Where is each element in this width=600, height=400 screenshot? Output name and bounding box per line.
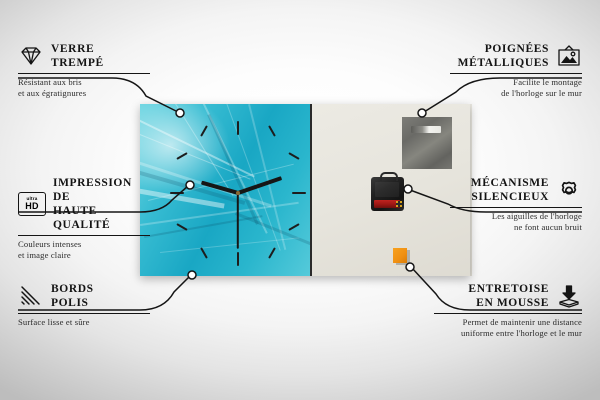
callout-impression-haute-qualite: ultra HD IMPRESSION DE HAUTE QUALITÉ Cou… [18,176,150,261]
clock-minute-hand [237,176,282,195]
callout-subtitle: Couleurs intenses et image claire [18,239,150,261]
metal-hanger-plate [402,117,452,169]
clock-second-hand [237,193,239,249]
clock-tick [170,192,184,194]
callout-rule [450,73,582,74]
diamond-icon [18,44,44,68]
callout-subtitle: Surface lisse et sûre [18,317,150,328]
callout-title: POIGNÉES MÉTALLIQUES [458,42,549,70]
clock-tick [176,152,187,160]
movement-panel [375,182,399,197]
callout-rule [18,313,150,314]
ultra-hd-icon-bottom: HD [25,202,38,211]
ultra-hd-icon: ultra HD [18,192,46,216]
callout-bords-polis: BORDS POLIS Surface lisse et sûre [18,282,150,328]
callout-title: VERRE TREMPÉ [51,42,104,70]
clock-tick [292,192,306,194]
clock-tick [176,223,187,231]
callout-title: MÉCANISME SILENCIEUX [471,176,549,204]
callout-rule [18,235,150,236]
foam-spacer-icon [556,284,582,308]
gear-icon [556,178,582,202]
clock-hour-hand [201,181,239,195]
infographic-canvas: VERRE TREMPÉ Résistant aux bris et aux é… [0,0,600,400]
clock-front-panel [140,104,310,276]
clock-tick [288,152,299,160]
clock-center-cap [236,191,240,195]
callout-title: ENTRETOISE EN MOUSSE [468,282,549,310]
polished-edge-icon [18,284,44,308]
movement-hook [380,172,398,181]
callout-rule [434,313,582,314]
callout-subtitle: Les aiguilles de l'horloge ne font aucun… [450,211,582,233]
hanger-slot [411,126,441,133]
battery-plus-icon [396,201,402,207]
foam-spacer [393,248,407,263]
callout-verre-trempe: VERRE TREMPÉ Résistant aux bris et aux é… [18,42,150,99]
clock-tick [200,247,208,258]
clock-tick [288,223,299,231]
callout-poignees-metalliques: POIGNÉES MÉTALLIQUES Facilite le montage… [450,42,582,99]
callout-subtitle: Résistant aux bris et aux égratignures [18,77,150,99]
quartz-movement [371,177,404,211]
callout-subtitle: Permet de maintenir une distance uniform… [434,317,582,339]
clock-tick [268,247,276,258]
callout-rule [450,207,582,208]
clock-tick [237,121,239,135]
clock-tick [268,125,276,136]
callout-mecanisme-silencieux: MÉCANISME SILENCIEUX Les aiguilles de l'… [450,176,582,233]
callout-rule [18,73,150,74]
clock-dial [140,104,310,276]
framed-picture-icon [556,44,582,68]
callout-title: IMPRESSION DE HAUTE QUALITÉ [53,176,150,232]
clock-tick [200,125,208,136]
callout-subtitle: Facilite le montage de l'horloge sur le … [450,77,582,99]
clock-tick [237,252,239,266]
callout-title: BORDS POLIS [51,282,94,310]
callout-entretoise-en-mousse: ENTRETOISE EN MOUSSE Permet de maintenir… [434,282,582,339]
